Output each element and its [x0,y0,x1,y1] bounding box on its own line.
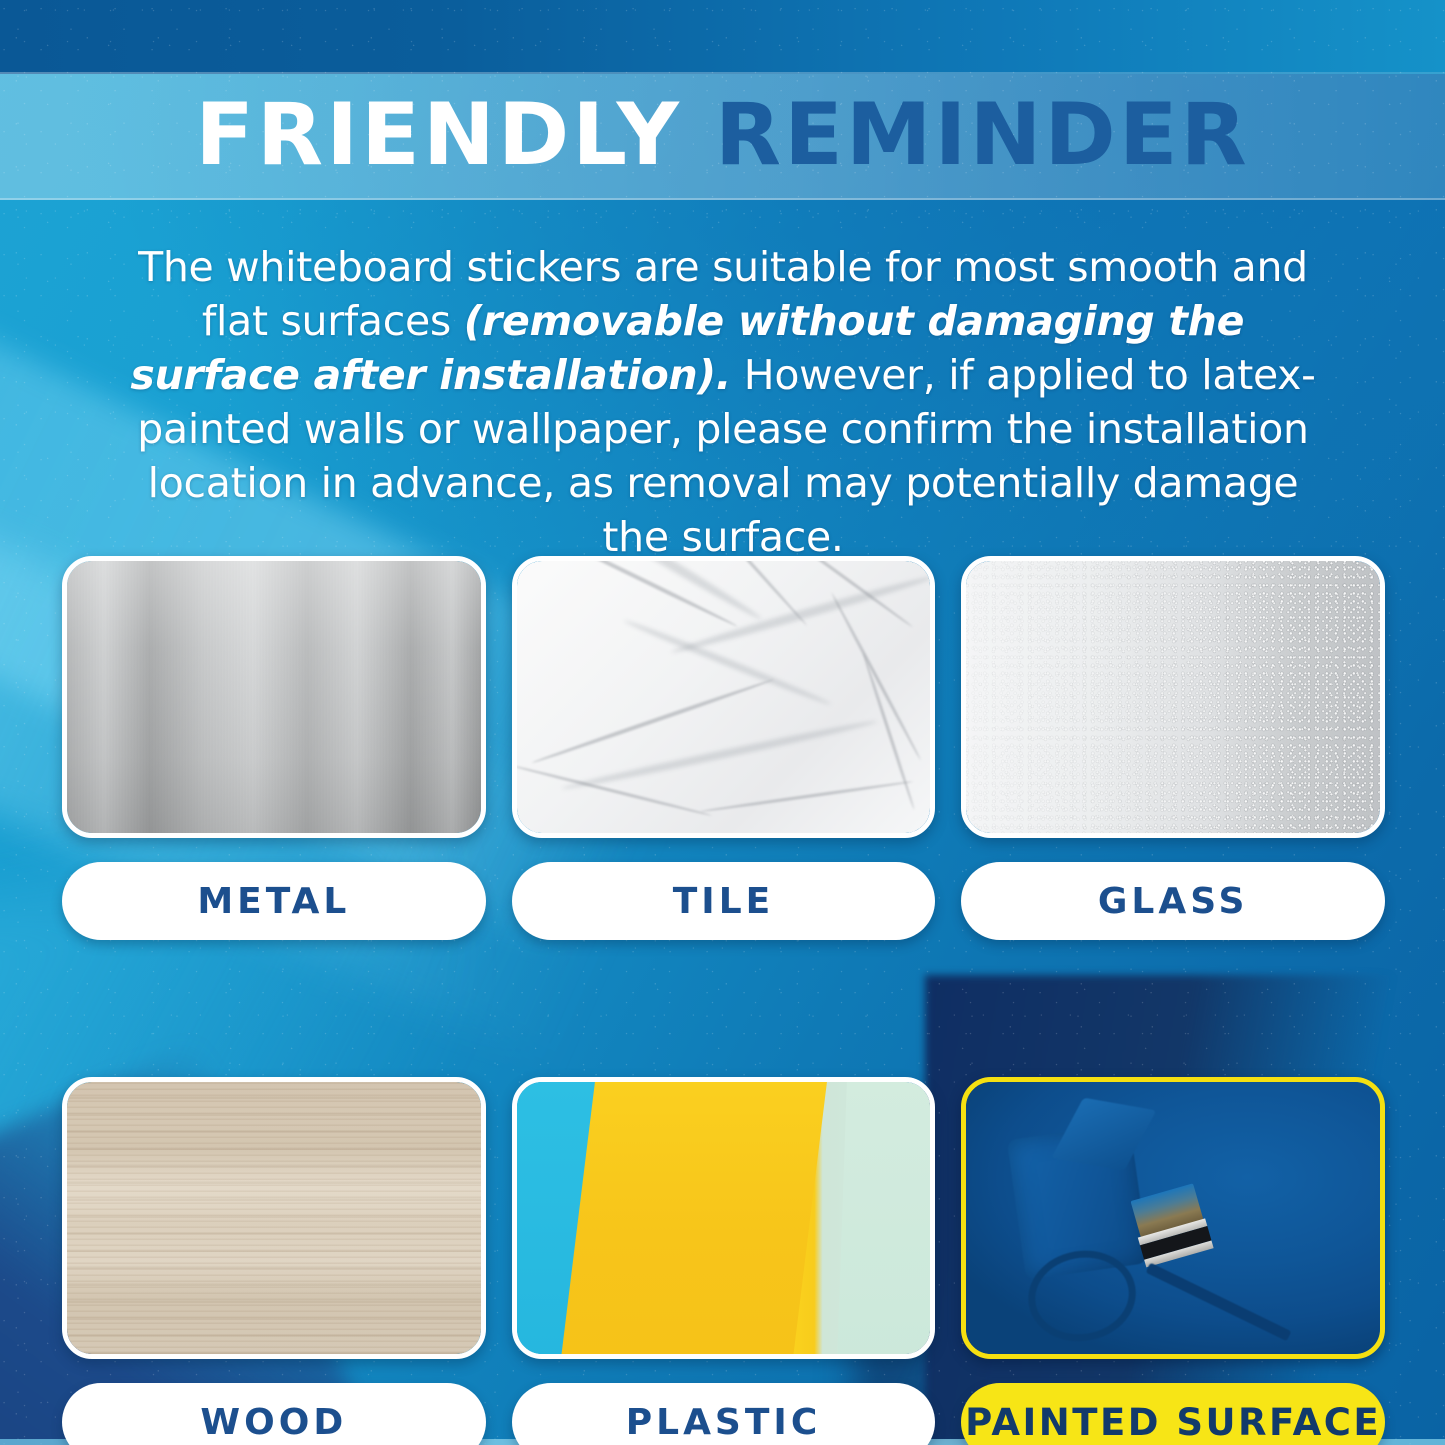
label-pill-metal[interactable]: METAL [62,862,486,940]
surface-grid: METAL [62,556,1385,1445]
frosted-glass-texture [966,561,1380,833]
label-pill-wood[interactable]: WOOD [62,1383,486,1445]
swatch-tile [512,556,936,838]
swatch-plastic [512,1077,936,1359]
label-text-wood: WOOD [200,1402,347,1443]
light-wood-grain-texture [67,1082,481,1354]
label-text-painted-surface: PAINTED SURFACE [965,1401,1381,1444]
label-pill-painted-surface[interactable]: PAINTED SURFACE [961,1383,1385,1445]
swatch-painted-surface [961,1077,1385,1359]
colored-plastic-sheets [517,1082,931,1354]
friendly-reminder-infographic: FRIENDLY REMINDER The whiteboard sticker… [0,0,1445,1445]
label-pill-tile[interactable]: TILE [512,862,936,940]
paint-can-and-brush [966,1082,1380,1354]
swatch-glass [961,556,1385,838]
background-top-band [0,0,1445,74]
paint-brush-handle [1146,1262,1292,1341]
surface-card-painted[interactable]: PAINTED SURFACE [961,1077,1385,1445]
surface-card-glass[interactable]: GLASS [961,556,1385,940]
label-pill-glass[interactable]: GLASS [961,862,1385,940]
body-paragraph: The whiteboard stickers are suitable for… [118,240,1328,564]
surface-card-metal[interactable]: METAL [62,556,486,940]
plastic-yellow-sheet [558,1082,831,1354]
swatch-wood [62,1077,486,1359]
surface-card-tile[interactable]: TILE [512,556,936,940]
label-text-plastic: PLASTIC [626,1402,821,1443]
page-title: FRIENDLY REMINDER [0,76,1445,194]
brushed-metal-texture [67,561,481,833]
label-text-glass: GLASS [1098,881,1249,922]
title-word-reminder: REMINDER [715,85,1250,185]
plastic-mint-sheet [836,1082,931,1354]
surface-card-wood[interactable]: WOOD [62,1077,486,1445]
label-text-metal: METAL [197,881,350,922]
swatch-metal [62,556,486,838]
surface-card-plastic[interactable]: PLASTIC [512,1077,936,1445]
label-text-tile: TILE [673,881,774,922]
title-word-friendly: FRIENDLY [195,85,682,185]
label-pill-plastic[interactable]: PLASTIC [512,1383,936,1445]
white-marble-texture [517,561,931,833]
